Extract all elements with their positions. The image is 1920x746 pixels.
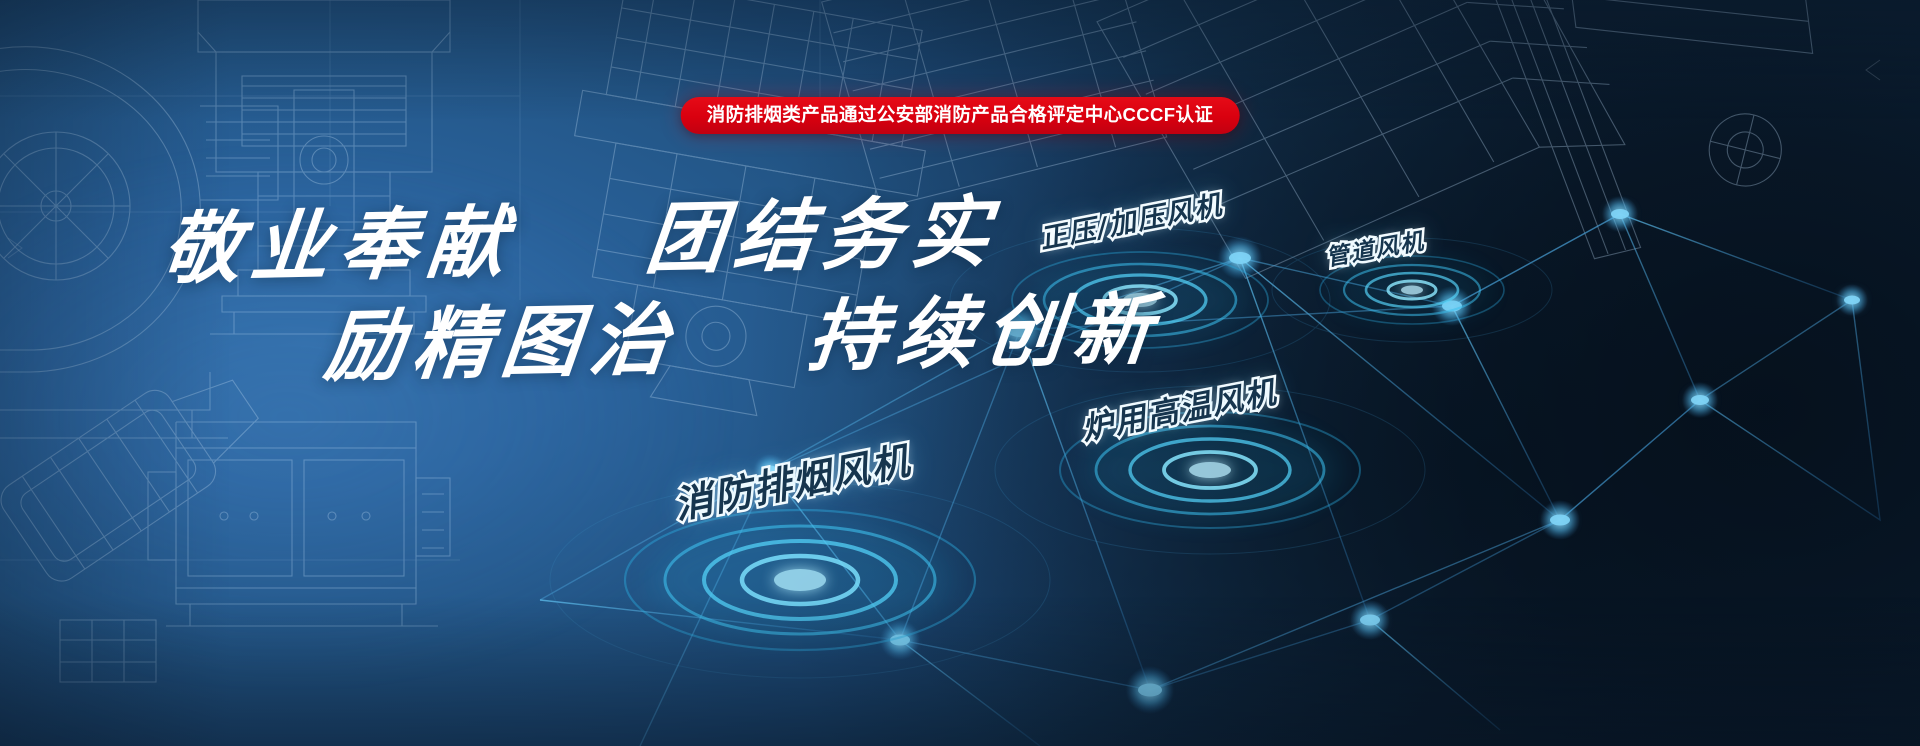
- hero-banner: 消防排烟类产品通过公安部消防产品合格评定中心CCCF认证 敬业奉献 团结务实 励…: [0, 0, 1920, 746]
- slogan-line-2-part-2: 持续创新: [804, 285, 1166, 383]
- slogan-line-2: 励精图治 持续创新: [321, 287, 1166, 392]
- slogan-line-2-part-1: 励精图治: [320, 295, 682, 393]
- slogan-spacer: [712, 365, 768, 366]
- slogan-line-1-part-1: 敬业奉献: [158, 197, 520, 295]
- slogan-spacer: [550, 267, 606, 268]
- slogan-line-1: 敬业奉献 团结务实: [158, 186, 1166, 294]
- certification-badge: 消防排烟类产品通过公安部消防产品合格评定中心CCCF认证: [681, 97, 1240, 134]
- slogan-line-1-part-2: 团结务实: [642, 187, 1004, 285]
- slogan-block: 敬业奉献 团结务实 励精图治 持续创新: [150, 196, 1160, 383]
